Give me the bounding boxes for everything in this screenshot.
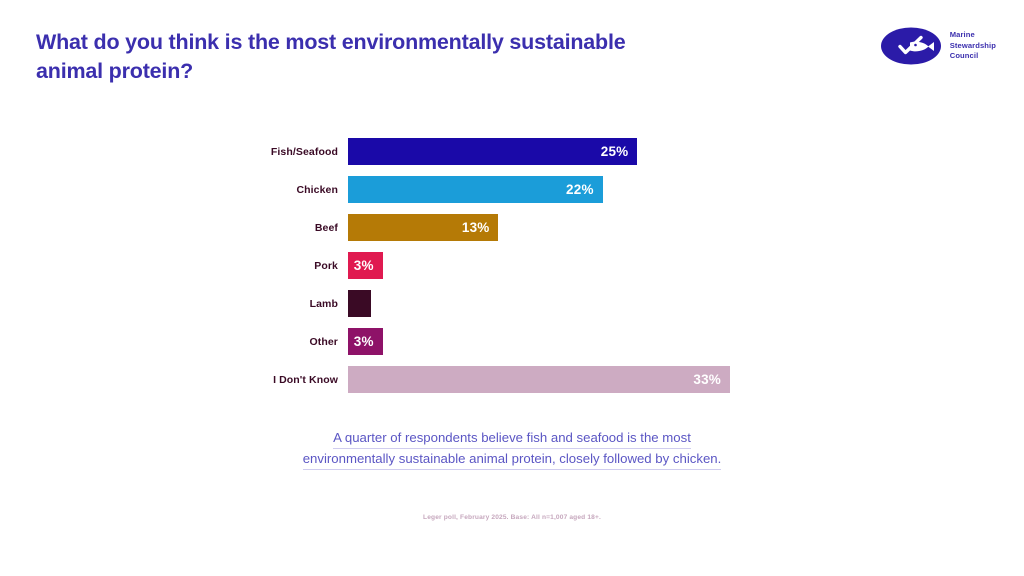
bar-category-label: Other <box>0 336 348 348</box>
page-title: What do you think is the most environmen… <box>36 28 636 85</box>
bar-value-label: 13% <box>462 220 490 235</box>
bar-pork[interactable]: 3% <box>348 252 383 279</box>
bar-row: Fish/Seafood 25% <box>0 138 1024 165</box>
caption-line-2: environmentally sustainable animal prote… <box>303 449 722 470</box>
bar-i-dont-know[interactable]: 33% <box>348 366 730 393</box>
bar-category-label: Beef <box>0 222 348 234</box>
bar-category-label: Lamb <box>0 298 348 310</box>
bar-track: 33% <box>348 366 1024 393</box>
bar-other[interactable]: 3% <box>348 328 383 355</box>
bar-row: Beef 13% <box>0 214 1024 241</box>
bar-category-label: Pork <box>0 260 348 272</box>
bar-value-label: 22% <box>566 182 594 197</box>
bar-value-label: 3% <box>354 258 374 273</box>
bar-chart: Fish/Seafood 25% Chicken 22% Beef 13% Po… <box>0 138 1024 404</box>
bar-track: 25% <box>348 138 1024 165</box>
bar-track: 13% <box>348 214 1024 241</box>
bar-chicken[interactable]: 22% <box>348 176 603 203</box>
bar-value-label: 25% <box>601 144 629 159</box>
bar-category-label: Fish/Seafood <box>0 146 348 158</box>
bar-value-label: 33% <box>693 372 721 387</box>
bar-row: I Don't Know 33% <box>0 366 1024 393</box>
source-footnote: Leger poll, February 2025. Base: All n=1… <box>0 514 1024 521</box>
brand-logo: Marine Stewardship Council <box>880 26 996 66</box>
bar-beef[interactable]: 13% <box>348 214 498 241</box>
bar-track: 3% <box>348 252 1024 279</box>
bar-lamb[interactable]: 2% <box>348 290 371 317</box>
bar-row: Pork 3% <box>0 252 1024 279</box>
bar-track: 22% <box>348 176 1024 203</box>
bar-category-label: Chicken <box>0 184 348 196</box>
bar-track: 2% <box>348 290 1024 317</box>
bar-row: Other 3% <box>0 328 1024 355</box>
bar-row: Lamb 2% <box>0 290 1024 317</box>
fish-checkmark-logo-icon <box>880 26 942 66</box>
caption-line-1: A quarter of respondents believe fish an… <box>333 428 691 449</box>
bar-row: Chicken 22% <box>0 176 1024 203</box>
logo-wordmark: Marine Stewardship Council <box>950 30 996 62</box>
chart-caption: A quarter of respondents believe fish an… <box>0 428 1024 470</box>
bar-value-label: 3% <box>354 334 374 349</box>
bar-track: 3% <box>348 328 1024 355</box>
bar-fish-seafood[interactable]: 25% <box>348 138 637 165</box>
bar-category-label: I Don't Know <box>0 374 348 386</box>
